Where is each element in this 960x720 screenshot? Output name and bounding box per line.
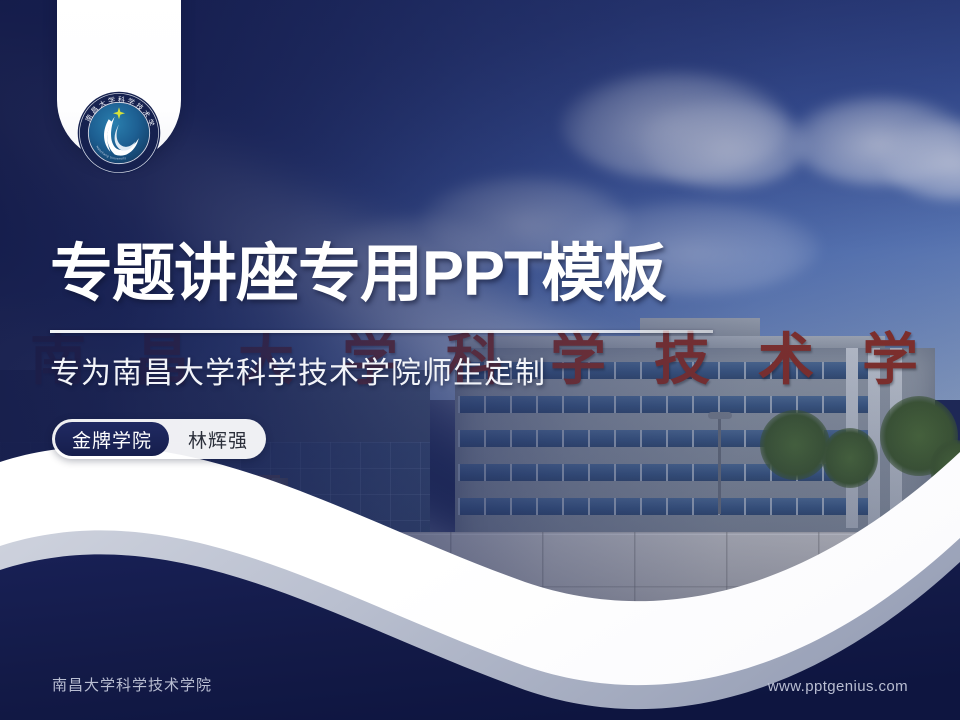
title-divider	[50, 330, 713, 333]
slide-subtitle: 专为南昌大学科学技术学院师生定制	[50, 348, 546, 392]
footer-website[interactable]: www.pptgenius.com	[768, 678, 908, 695]
presenter-name: 林辉强	[188, 426, 248, 453]
presenter-tag: 金牌学院	[55, 422, 169, 456]
footer-institution: 南昌大学科学技术学院	[52, 674, 212, 695]
presentation-slide: 南 昌 大 学 科 学 技 术 学 院	[0, 0, 960, 720]
slide-title: 专题讲座专用PPT模板	[50, 240, 666, 309]
logo-tab: 南昌大学科学技术学院 Nanchang University	[57, 0, 181, 162]
presenter-badge: 金牌学院 林辉强	[52, 419, 266, 459]
university-logo: 南昌大学科学技术学院 Nanchang University	[76, 90, 162, 176]
